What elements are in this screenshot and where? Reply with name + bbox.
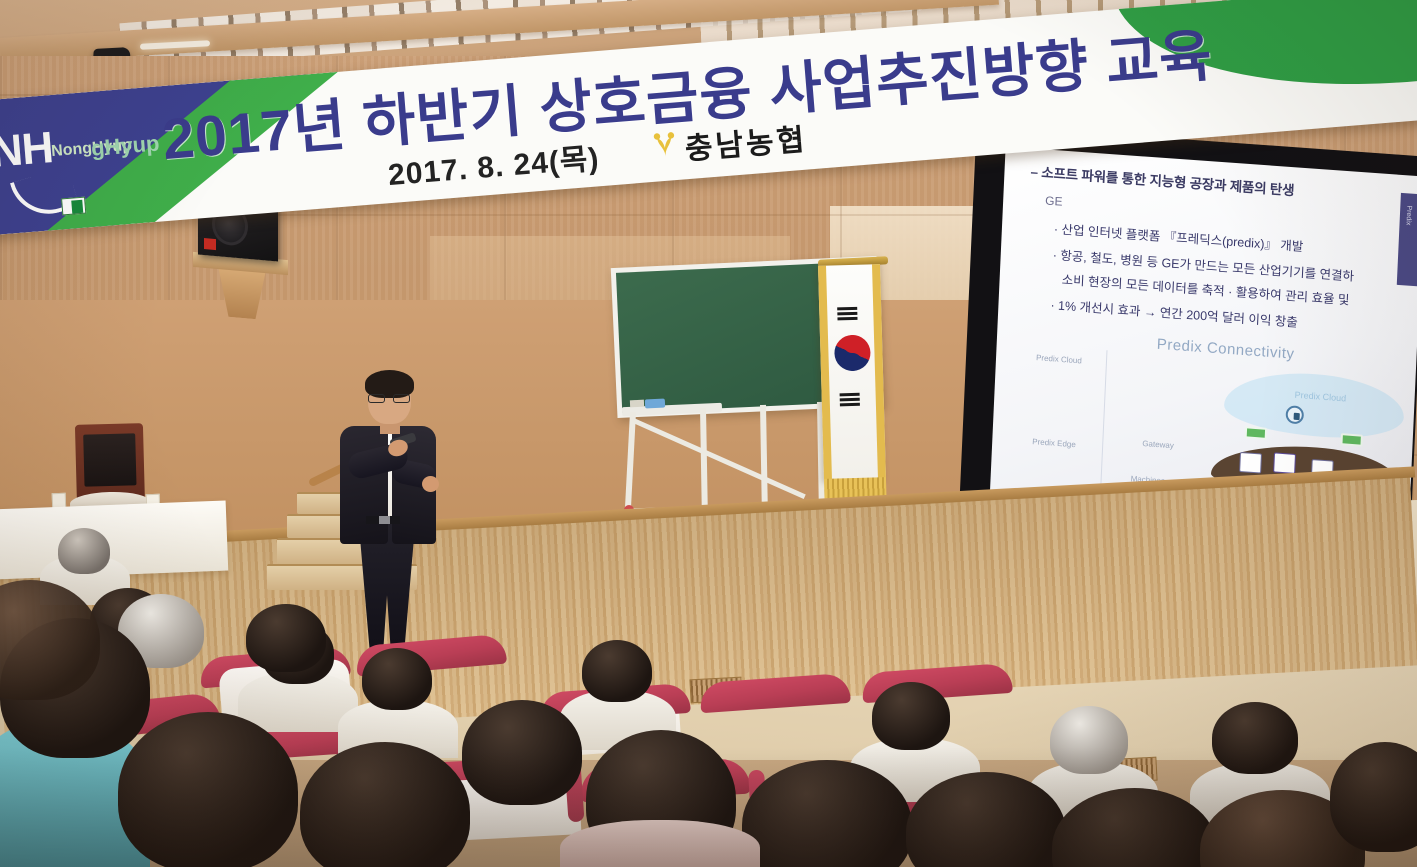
glasses-icon	[368, 394, 410, 403]
audience-shoulders-v	[560, 820, 760, 867]
green-node-icon-1	[1245, 426, 1267, 440]
turbine-icon	[1273, 452, 1296, 474]
tower-icon	[1239, 452, 1262, 474]
presenter-belt	[366, 516, 400, 524]
slide-side-tab: Predix	[1397, 193, 1417, 287]
diagram-title: Predix Connectivity	[1156, 336, 1294, 363]
taeguk-symbol-icon	[834, 334, 871, 371]
audience-head-n-foreground	[300, 742, 470, 867]
korean-flag	[818, 264, 886, 481]
projection-screen: – 소프트 파워를 통한 지능형 공장과 제품의 탄생 GE · 산업 인터넷 …	[972, 139, 1417, 514]
audience-head-f	[1050, 706, 1128, 774]
slide-company-bullet: GE	[1045, 193, 1063, 208]
chalk-piece	[630, 400, 644, 408]
diagram-divider	[1100, 350, 1107, 490]
slide-heading: – 소프트 파워를 통한 지능형 공장과 제품의 탄생	[1030, 160, 1295, 199]
trigram-geon-icon	[837, 307, 857, 322]
nonghyup-sprout-icon	[652, 129, 678, 159]
banner-organization: 충남농협	[683, 115, 809, 169]
audience-head-d	[362, 648, 432, 710]
audience-head-c	[582, 640, 652, 702]
presenter-jacket-left	[340, 426, 388, 544]
audience-head-e	[872, 682, 950, 750]
diagram-label-edge: Predix Edge	[1032, 437, 1076, 450]
diagram-label-gateway: Gateway	[1142, 439, 1174, 452]
eraser	[645, 399, 665, 409]
trigram-gon-icon	[840, 393, 860, 408]
audience-head-a	[58, 528, 110, 574]
audience-head-m-foreground	[118, 712, 298, 867]
nh-green-mark-icon	[61, 197, 86, 216]
audience-head-i	[246, 604, 326, 672]
speaker-brand-badge	[204, 238, 216, 250]
green-node-icon-2	[1340, 433, 1362, 447]
diagram-label-cloud: Predix Cloud	[1036, 353, 1082, 367]
nh-logo: NH	[0, 123, 55, 178]
presenter	[334, 374, 439, 654]
audience-head-o	[462, 700, 582, 805]
nh-logo-hyup: gHyup	[90, 130, 160, 161]
presenter-hand-right	[422, 476, 439, 492]
audience-head-g	[1212, 702, 1298, 774]
photo-scene: – 소프트 파워를 통한 지능형 공장과 제품의 탄생 GE · 산업 인터넷 …	[0, 0, 1417, 867]
